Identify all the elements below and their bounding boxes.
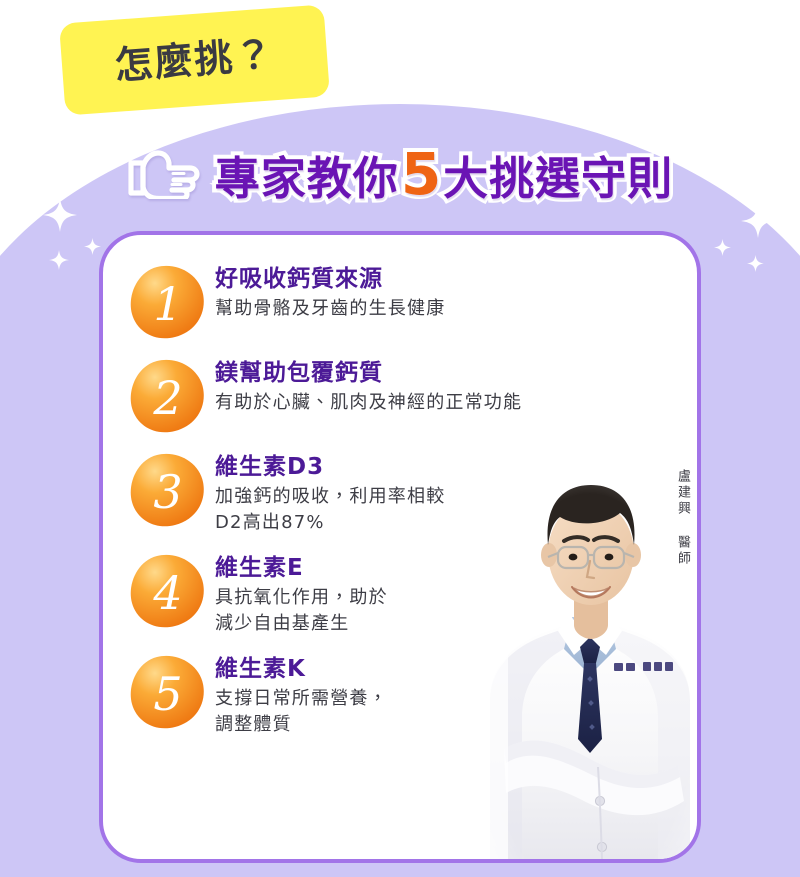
doctor-name-label: 盧建興 醫師 [668,469,690,567]
rule-desc: 幫助骨骼及牙齒的生長健康 [215,296,701,322]
question-tag: 怎麼挑？ [59,4,330,115]
question-tag-label: 怎麼挑？ [113,35,275,85]
headline-prefix: 專家教你 [215,156,399,201]
rule-number-badge: 1 [127,264,207,340]
rule-body: 維生素K 支撐日常所需營養， 調整體質 [215,650,701,737]
rule-desc: 支撐日常所需營養， 調整體質 [215,686,701,737]
headline-suffix: 大挑選守則 [443,156,673,201]
rule-desc: 加強鈣的吸收，利用率相較 D2高出87% [215,484,701,535]
rule-number-badge: 5 [127,654,207,730]
promo-infographic: 怎麼挑？ 專家教你 5 大挑選守則 [0,0,800,877]
headline-text: 專家教你 5 大挑選守則 [215,145,673,203]
rule-title: 維生素E [215,554,701,582]
rule-title: 維生素K [215,655,701,683]
list-item: 3 維生素D3 加強鈣的吸收，利用率相較 D2高出87% [127,448,701,535]
svg-text:4: 4 [152,566,182,620]
rule-title: 好吸收鈣質來源 [215,265,701,293]
list-item: 2 鎂幫助包覆鈣質 有助於心臟、肌肉及神經的正常功能 [127,354,701,434]
list-item: 1 好吸收鈣質來源 幫助骨骼及牙齒的生長健康 [127,260,701,340]
headline-number: 5 [401,145,441,203]
rule-number-badge: 3 [127,452,207,528]
rule-body: 好吸收鈣質來源 幫助骨骼及牙齒的生長健康 [215,260,701,322]
rule-number-badge: 2 [127,358,207,434]
rule-body: 維生素E 具抗氧化作用，助於 減少自由基產生 [215,549,701,636]
rule-desc: 有助於心臟、肌肉及神經的正常功能 [215,390,701,416]
rules-card: 盧建興 醫師 1 [99,231,701,863]
list-item: 5 維生素K 支撐日常所需營養， 調整體質 [127,650,701,737]
rule-desc: 具抗氧化作用，助於 減少自由基產生 [215,585,701,636]
headline: 專家教你 5 大挑選守則 [0,137,800,211]
rule-body: 鎂幫助包覆鈣質 有助於心臟、肌肉及神經的正常功能 [215,354,701,416]
rule-title: 鎂幫助包覆鈣質 [215,359,701,387]
svg-text:3: 3 [153,465,182,519]
rule-body: 維生素D3 加強鈣的吸收，利用率相較 D2高出87% [215,448,701,535]
rule-title: 維生素D3 [215,453,701,481]
svg-text:1: 1 [153,277,182,331]
list-item: 4 維生素E 具抗氧化作用，助於 減少自由基產生 [127,549,701,636]
svg-text:5: 5 [153,667,182,721]
rules-list: 1 好吸收鈣質來源 幫助骨骼及牙齒的生長健康 2 鎂幫助包覆鈣質 [103,235,701,751]
rule-number-badge: 4 [127,553,207,629]
pointing-hand-right-icon [127,149,201,199]
svg-text:2: 2 [152,371,182,425]
